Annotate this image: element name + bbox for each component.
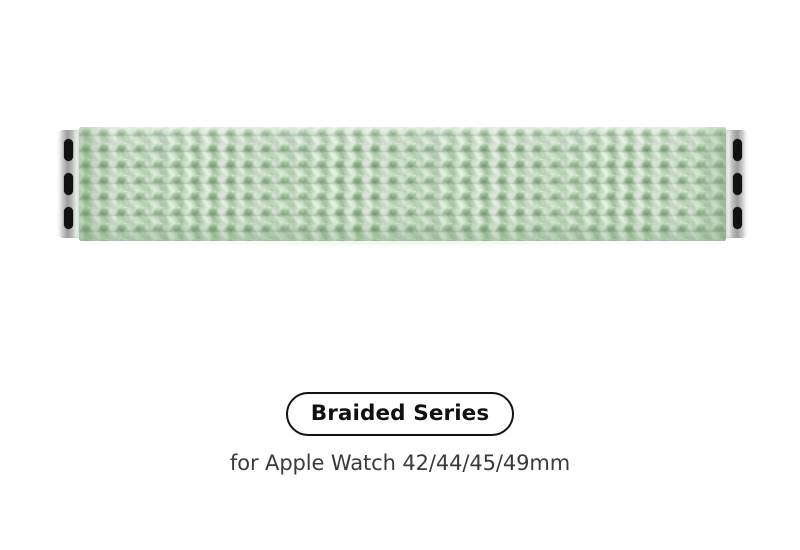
lug-slot-icon [733, 139, 742, 161]
strap-shading-overlay [78, 127, 727, 241]
strap-taper-right [693, 127, 727, 241]
compatibility-spec-text: for Apple Watch 42/44/45/49mm [0, 451, 800, 475]
strap-taper-left [78, 127, 112, 241]
braided-strap-body [78, 127, 727, 241]
lug-slot-icon [64, 139, 73, 161]
caption-block: Braided Series for Apple Watch 42/44/45/… [0, 392, 800, 475]
lug-slot-icon [733, 207, 742, 229]
series-badge: Braided Series [286, 392, 514, 436]
watch-lug-connector-right [726, 130, 748, 238]
lug-slot-icon [64, 207, 73, 229]
lug-slot-icon [64, 173, 73, 195]
product-image-stage: Braided Series for Apple Watch 42/44/45/… [0, 0, 800, 550]
watch-lug-connector-left [57, 130, 79, 238]
watch-band-product [57, 127, 748, 241]
lug-slot-icon [733, 173, 742, 195]
